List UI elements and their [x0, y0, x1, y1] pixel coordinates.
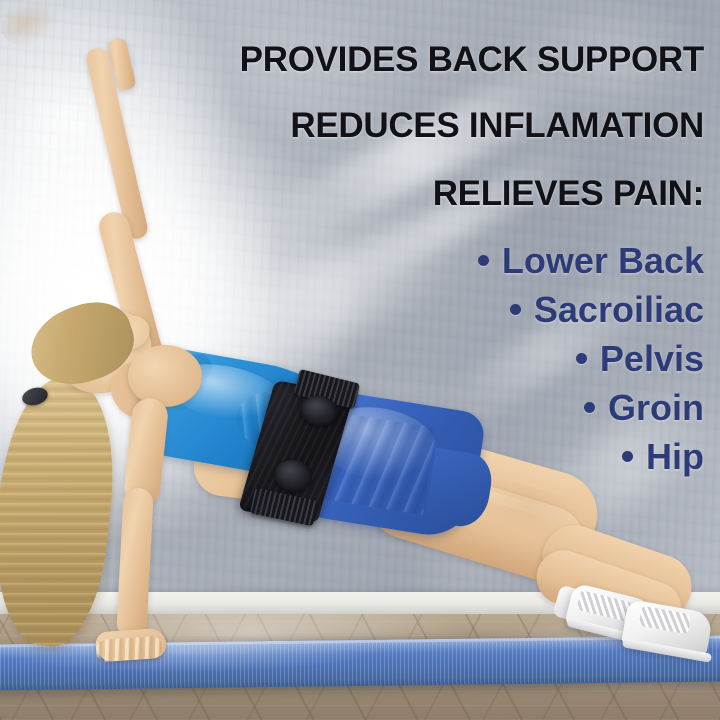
ponytail-strands	[0, 373, 124, 651]
bullet-dot-icon	[478, 255, 489, 266]
headline-provides-back-support: PROVIDES BACK SUPPORT	[240, 42, 704, 77]
bullet-dot-icon	[584, 402, 595, 413]
planted-hand-fingers	[95, 636, 162, 663]
list-item: Pelvis	[144, 334, 704, 383]
list-item: Lower Back	[144, 236, 704, 285]
headline-reduces-inflamation: REDUCES INFLAMATION	[290, 108, 704, 143]
bullet-dot-icon	[576, 353, 587, 364]
marketing-copy-block: PROVIDES BACK SUPPORT REDUCES INFLAMATIO…	[144, 0, 704, 520]
list-item: Groin	[144, 383, 704, 432]
benefit-label: Groin	[608, 390, 704, 426]
benefit-list: Lower Back Sacroiliac Pelvis Groin Hip	[144, 236, 704, 481]
headline-relieves-pain: RELIEVES PAIN:	[433, 176, 704, 211]
product-marketing-graphic: PROVIDES BACK SUPPORT REDUCES INFLAMATIO…	[0, 0, 720, 720]
bullet-dot-icon	[510, 304, 521, 315]
benefit-label: Pelvis	[600, 341, 704, 377]
list-item: Hip	[144, 432, 704, 481]
benefit-label: Lower Back	[502, 243, 704, 279]
list-item: Sacroiliac	[144, 285, 704, 334]
benefit-label: Hip	[646, 439, 704, 475]
benefit-label: Sacroiliac	[534, 292, 704, 328]
bullet-dot-icon	[622, 451, 633, 462]
face-shading	[0, 0, 66, 54]
